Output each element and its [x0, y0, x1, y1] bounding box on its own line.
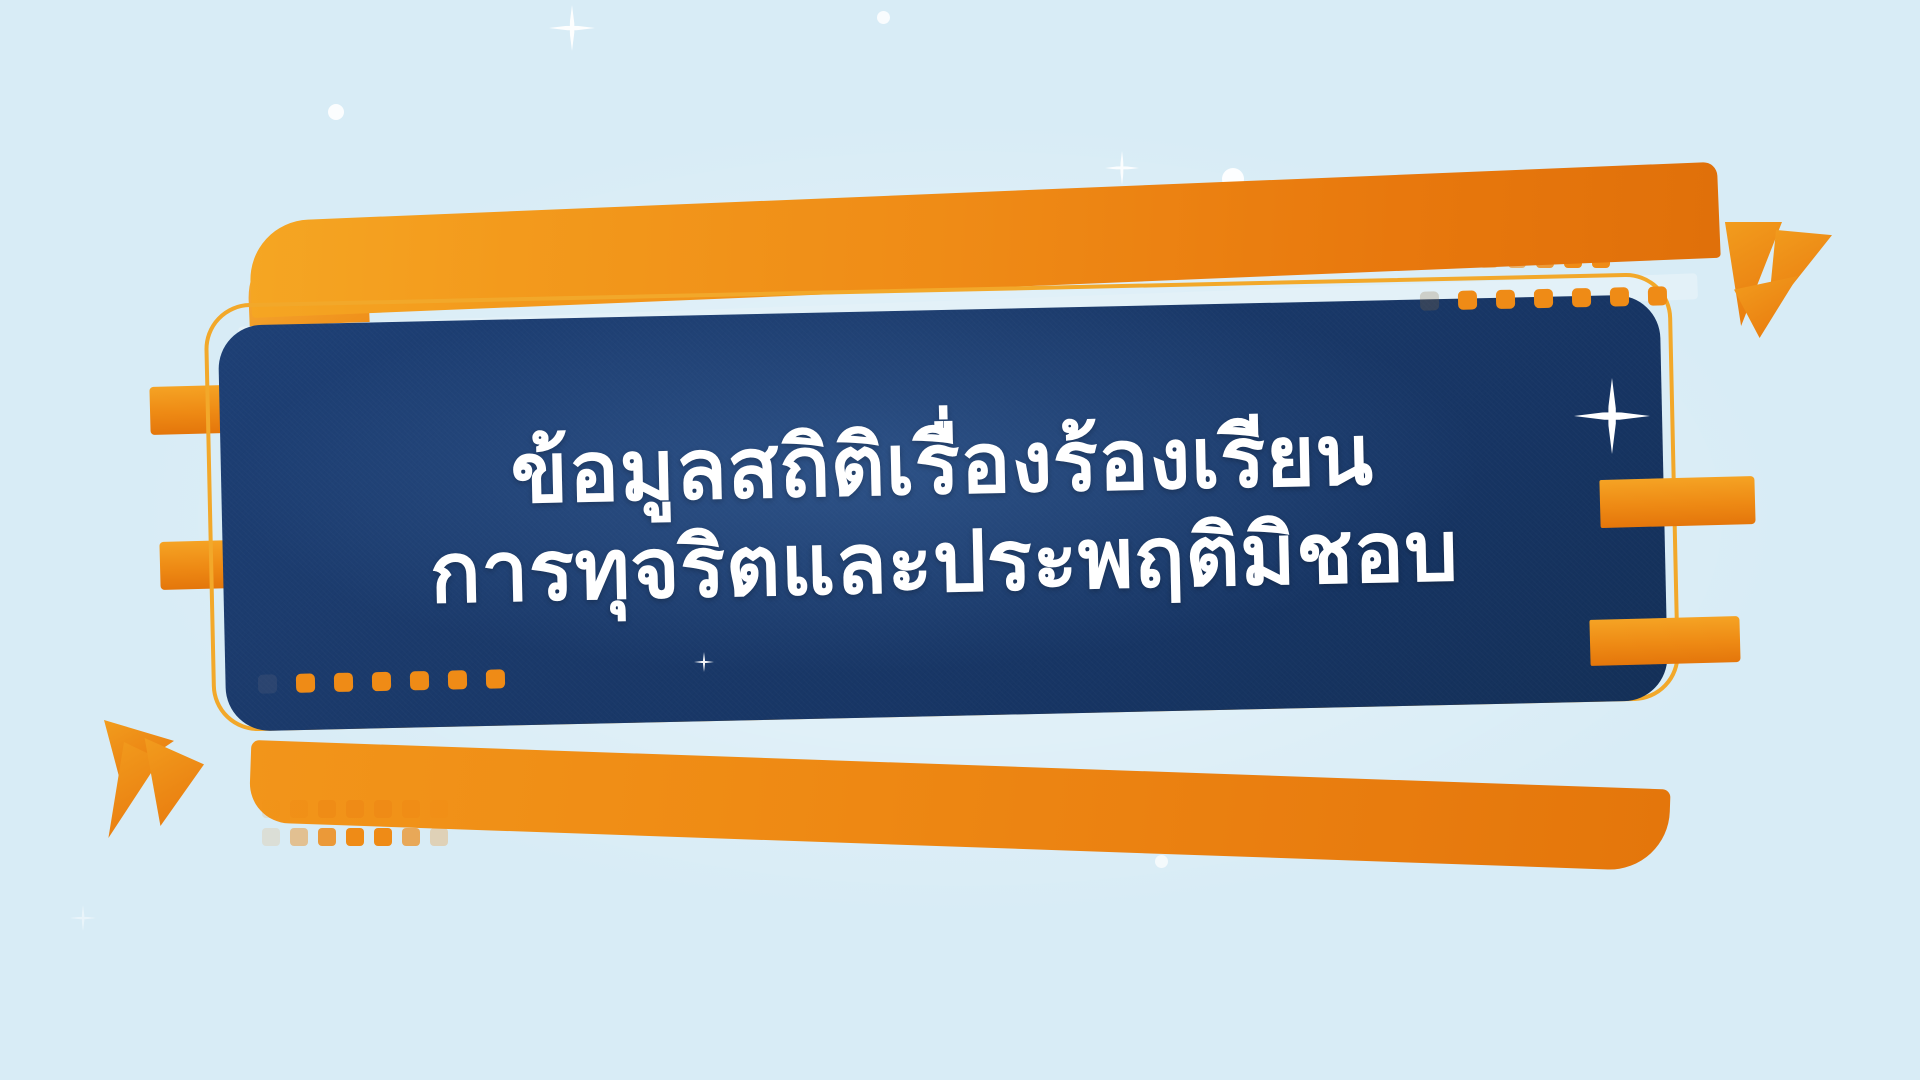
orange-ribbon-bottom	[249, 740, 1671, 872]
burst-shard	[138, 738, 204, 826]
navy-title-plate	[218, 294, 1669, 731]
tab-right-lower	[1589, 616, 1740, 666]
dot-grid-bottom-left	[262, 800, 448, 846]
plate-glow	[218, 294, 1669, 731]
burst-top-right	[1720, 222, 1870, 342]
burst-bottom-left	[100, 720, 240, 840]
decorative-banner: ข้อมูลสถิติเรื่องร้องเรียน การทุจริตและป…	[0, 0, 1920, 1080]
tab-right-upper	[1599, 476, 1755, 528]
